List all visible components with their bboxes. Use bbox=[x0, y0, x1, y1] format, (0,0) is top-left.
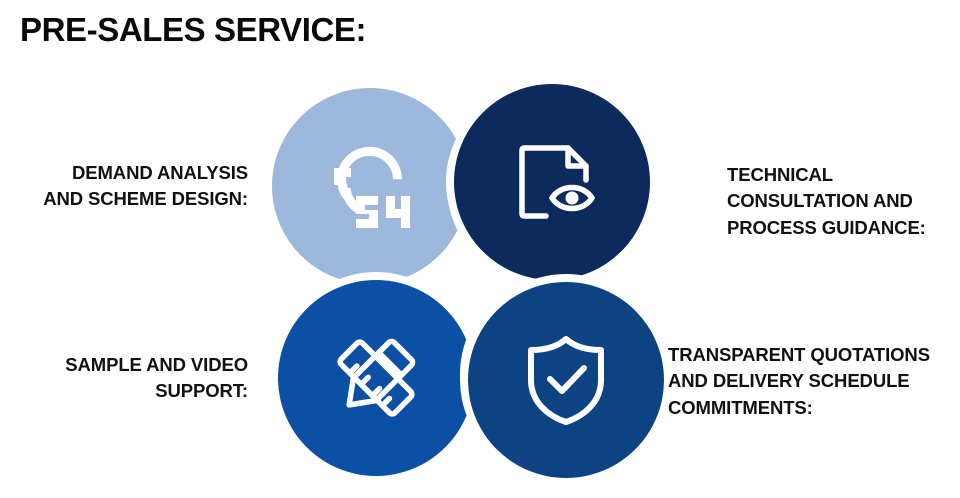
label-demand-analysis: DEMAND ANALYSIS AND SCHEME DESIGN: bbox=[0, 160, 248, 213]
label-line: TRANSPARENT QUOTATIONS bbox=[668, 342, 960, 368]
label-line: CONSULTATION AND bbox=[727, 188, 959, 214]
circle-demand-analysis[interactable] bbox=[272, 88, 468, 284]
label-line: PROCESS GUIDANCE: bbox=[727, 215, 959, 241]
clock-24-rotate-icon bbox=[324, 144, 416, 228]
label-line: AND DELIVERY SCHEDULE bbox=[668, 368, 960, 394]
circle-technical-consultation[interactable] bbox=[454, 84, 650, 280]
label-line: COMMITMENTS: bbox=[668, 395, 960, 421]
shield-check-icon bbox=[522, 332, 610, 428]
infographic-page: PRE-SALES SERVICE: DEMAND ANALYSIS AND S… bbox=[0, 0, 960, 498]
label-line: AND SCHEME DESIGN: bbox=[0, 186, 248, 212]
document-eye-icon bbox=[506, 136, 598, 228]
label-sample-video-support: SAMPLE AND VIDEO SUPPORT: bbox=[0, 352, 248, 405]
page-title: PRE-SALES SERVICE: bbox=[20, 12, 366, 48]
label-line: TECHNICAL bbox=[727, 162, 959, 188]
label-line: SAMPLE AND VIDEO bbox=[0, 352, 248, 378]
circle-sample-video-support[interactable] bbox=[278, 280, 474, 476]
circle-transparent-quotations[interactable] bbox=[468, 282, 664, 478]
label-technical-consultation: TECHNICAL CONSULTATION AND PROCESS GUIDA… bbox=[727, 162, 959, 241]
venn-diagram-cluster bbox=[264, 80, 674, 486]
label-transparent-quotations: TRANSPARENT QUOTATIONS AND DELIVERY SCHE… bbox=[668, 342, 960, 421]
pencil-ruler-icon bbox=[328, 330, 424, 426]
label-line: SUPPORT: bbox=[0, 378, 248, 404]
label-line: DEMAND ANALYSIS bbox=[0, 160, 248, 186]
